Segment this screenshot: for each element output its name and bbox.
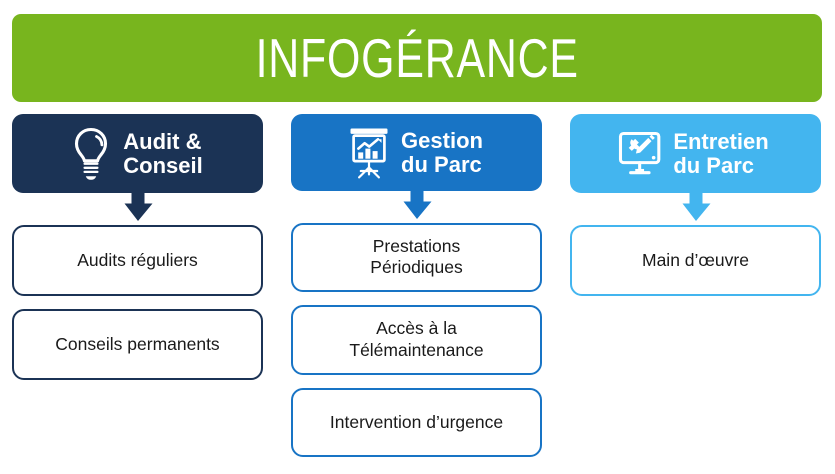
column-header-gestion-du-parc[interactable]: Gestion du Parc (291, 114, 542, 191)
list-item[interactable]: Main d’œuvre (570, 225, 821, 296)
monitor-tools-icon (618, 126, 664, 182)
infographic-canvas: INFOGÉRANCE Audit & Conseil (0, 0, 835, 474)
list-item-label: Accès à la Télémaintenance (349, 318, 483, 361)
arrow-down-icon (118, 192, 158, 222)
column-audit-conseil: Audit & Conseil Audits réguliers Conseil… (12, 114, 263, 470)
list-item[interactable]: Audits réguliers (12, 225, 263, 296)
page-title: INFOGÉRANCE (255, 31, 578, 86)
column-header-entretien-du-parc[interactable]: Entretien du Parc (570, 114, 821, 193)
column-header-audit-conseil[interactable]: Audit & Conseil (12, 114, 263, 193)
list-item-label: Audits réguliers (77, 250, 198, 271)
list-item-label: Conseils permanents (55, 334, 219, 355)
arrow-down-icon (676, 192, 716, 222)
column-entretien-du-parc: Entretien du Parc Main d’œuvre (570, 114, 821, 470)
list-item[interactable]: Conseils permanents (12, 309, 263, 380)
arrow-entretien-du-parc (570, 193, 821, 225)
presentation-chart-icon (346, 125, 392, 181)
column-header-label: Audit & Conseil (123, 130, 202, 177)
arrow-gestion-du-parc (291, 191, 542, 222)
list-item-label: Intervention d’urgence (330, 412, 503, 433)
lightbulb-icon (68, 126, 114, 182)
list-item-label: Prestations Périodiques (370, 236, 462, 279)
list-item[interactable]: Intervention d’urgence (291, 388, 542, 458)
list-item-label: Main d’œuvre (642, 250, 749, 271)
list-item[interactable]: Prestations Périodiques (291, 223, 542, 293)
list-item[interactable]: Accès à la Télémaintenance (291, 305, 542, 375)
arrow-audit-conseil (12, 193, 263, 225)
column-gestion-du-parc: Gestion du Parc Prestations Périodiques … (291, 114, 542, 470)
columns-container: Audit & Conseil Audits réguliers Conseil… (12, 114, 822, 470)
column-header-label: Entretien du Parc (673, 130, 768, 177)
banner-infogerance: INFOGÉRANCE (12, 14, 822, 102)
arrow-down-icon (397, 190, 437, 220)
column-header-label: Gestion du Parc (401, 129, 483, 176)
